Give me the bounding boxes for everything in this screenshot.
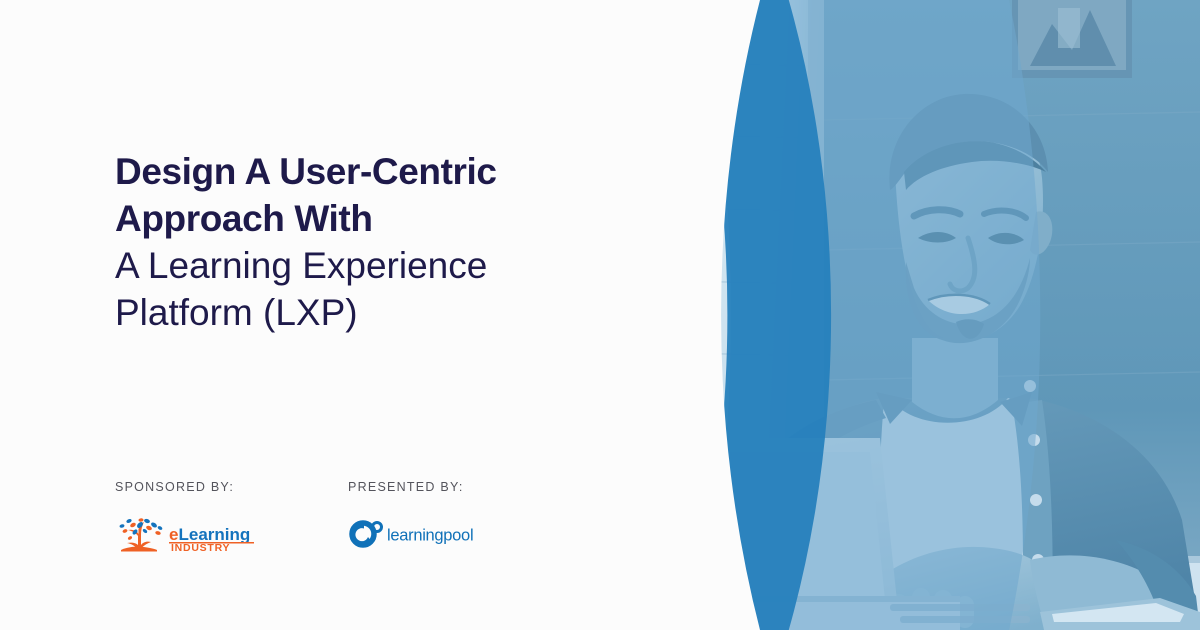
webinar-promo-banner: Design A User-Centric Approach With A Le… bbox=[0, 0, 1200, 630]
credits-row: SPONSORED BY: bbox=[115, 480, 498, 552]
logo-text-learning: Learning bbox=[179, 525, 251, 544]
logo-text-industry: INDUSTRY bbox=[171, 542, 230, 552]
title-line-3: A Learning Experience bbox=[115, 242, 585, 289]
learningpool-logo[interactable]: learningpool bbox=[348, 518, 498, 552]
hero-photo-illustration bbox=[560, 0, 1200, 630]
hero-photo bbox=[560, 0, 1200, 630]
title-line-1: Design A User-Centric bbox=[115, 148, 585, 195]
elearning-industry-logo[interactable]: e Learning INDUSTRY bbox=[115, 518, 260, 552]
title-line-2: Approach With bbox=[115, 195, 585, 242]
learningpool-logo-graphic: learningpool bbox=[348, 520, 498, 550]
content-column: Design A User-Centric Approach With A Le… bbox=[115, 0, 585, 630]
credit-presented-by: PRESENTED BY: learningpool bbox=[348, 480, 498, 552]
title-line-4: Platform (LXP) bbox=[115, 289, 585, 336]
logo-text-e: e bbox=[169, 525, 178, 544]
sponsored-by-label: SPONSORED BY: bbox=[115, 480, 260, 494]
elearning-industry-logo-graphic: e Learning INDUSTRY bbox=[115, 518, 260, 552]
presented-by-label: PRESENTED BY: bbox=[348, 480, 498, 494]
credit-sponsored-by: SPONSORED BY: bbox=[115, 480, 260, 552]
page-title: Design A User-Centric Approach With A Le… bbox=[115, 148, 585, 336]
learningpool-wordmark: learningpool bbox=[387, 527, 473, 545]
